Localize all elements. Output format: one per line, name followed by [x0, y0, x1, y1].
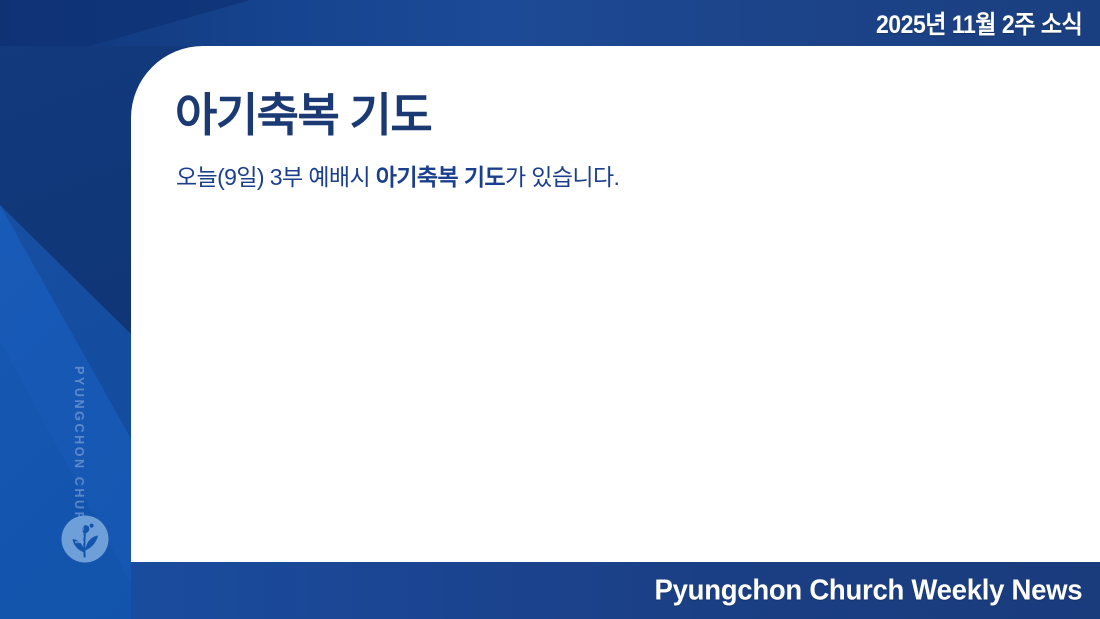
- header-diagonal-shade: [0, 0, 345, 46]
- footer-band: Pyungchon Church Weekly News: [131, 562, 1100, 619]
- header-band: 2025년 11월 2주 소식: [0, 0, 1100, 46]
- announcement-text-suffix: 가 있습니다.: [505, 164, 619, 190]
- page-title: 아기축복 기도: [175, 79, 431, 145]
- announcement-text-highlight: 아기축복 기도: [376, 164, 505, 190]
- announcement-text: 오늘(9일) 3부 예배시 아기축복 기도가 있습니다.: [176, 158, 619, 192]
- slide-canvas: 2025년 11월 2주 소식 아기축복 기도 오늘(9일) 3부 예배시 아기…: [0, 0, 1100, 619]
- announcement-text-prefix: 오늘(9일) 3부 예배시: [176, 164, 376, 190]
- content-card: 아기축복 기도 오늘(9일) 3부 예배시 아기축복 기도가 있습니다.: [131, 46, 1100, 562]
- header-date-title: 2025년 11월 2주 소식: [876, 5, 1082, 41]
- footer-brand-title: Pyungchon Church Weekly News: [654, 574, 1082, 607]
- church-plant-logo-icon: [58, 512, 112, 566]
